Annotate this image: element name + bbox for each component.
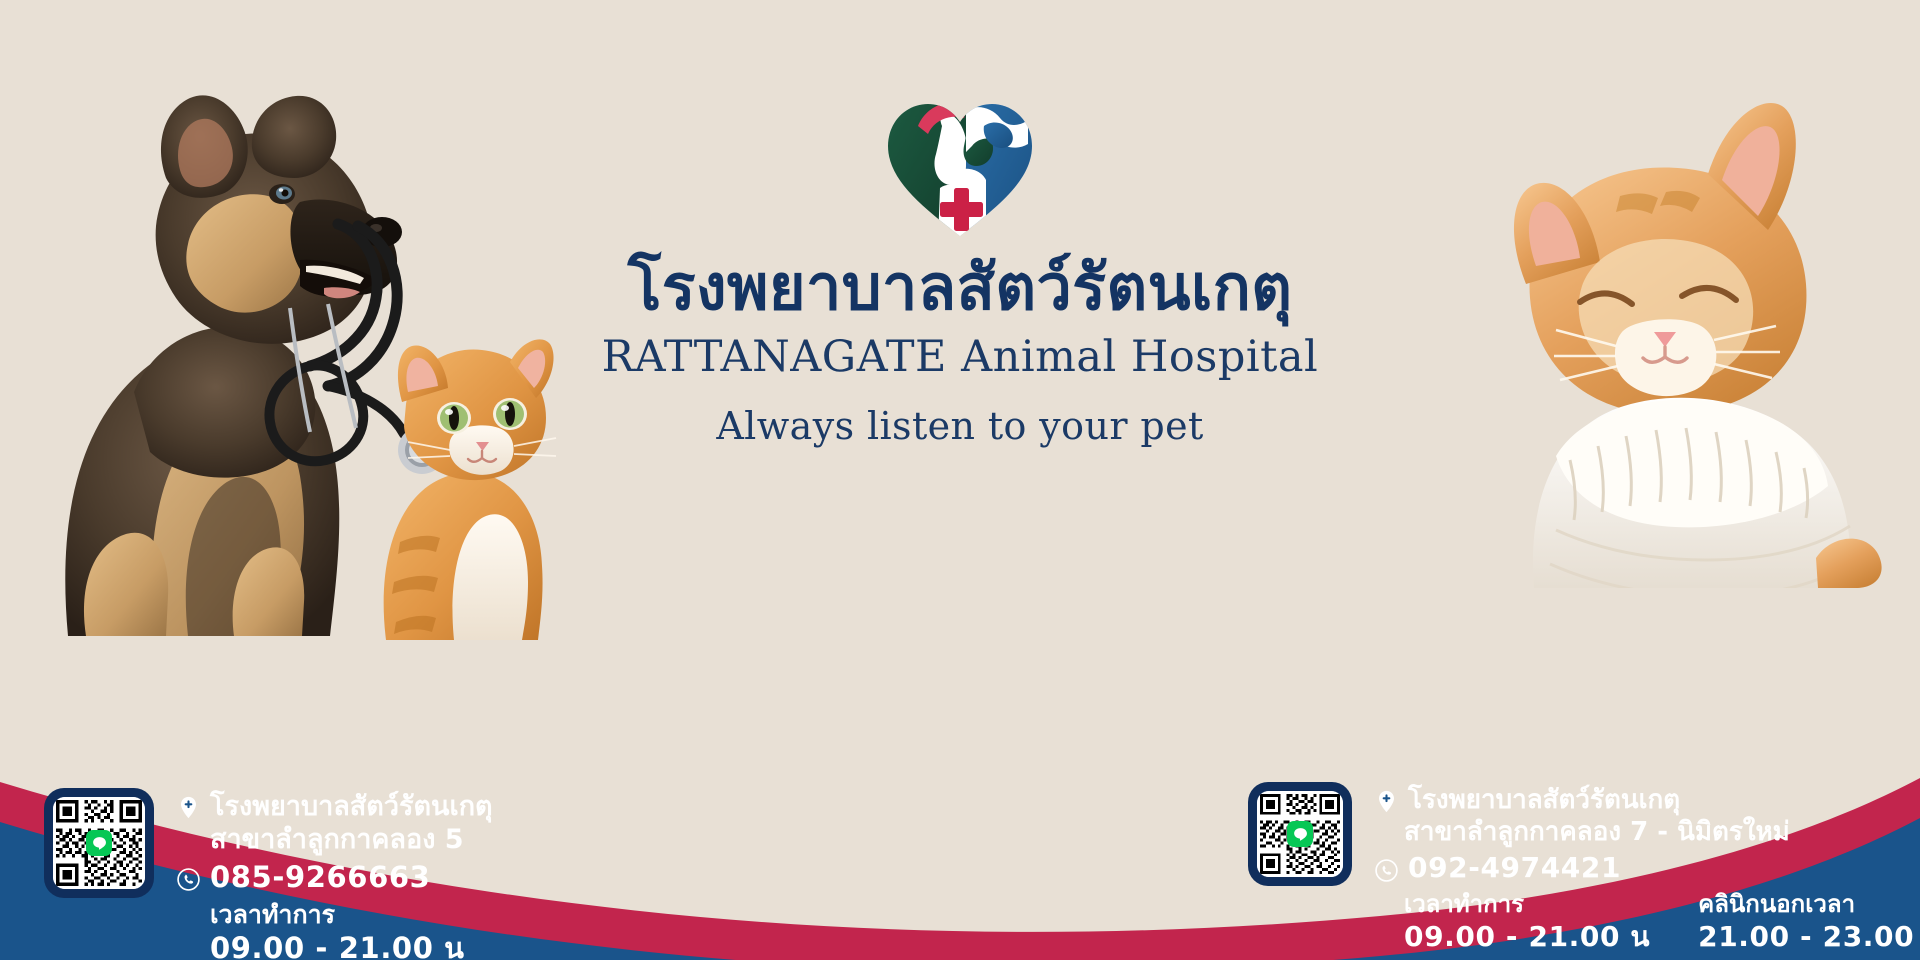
ginger-kitten-in-white-sweater <box>1470 88 1890 588</box>
phone-icon <box>1374 858 1399 883</box>
branch-contact-1: โรงพยาบาลสัตว์รัตนเกตุ สาขาลำลูกกาคลอง 5… <box>44 788 493 960</box>
branch-address-2: สาขาลำลูกกาคลอง 7 - นิมิตรใหม่ <box>1374 816 1920 848</box>
line-qr-code-2[interactable] <box>1248 782 1352 886</box>
hospital-tagline: Always listen to your pet <box>580 405 1340 449</box>
branch-name-2: โรงพยาบาลสัตว์รัตนเกตุ <box>1408 784 1680 816</box>
hospital-name-thai: โรงพยาบาลสัตว์รัตนเกตุ <box>580 255 1340 321</box>
ginger-kitten <box>350 330 590 640</box>
branch-phone-2[interactable]: 092-4974421 <box>1408 851 1621 884</box>
hours-label-1: เวลาทำการ <box>210 900 465 930</box>
hours-block-2-regular: เวลาทำการ 09.00 - 21.00 น <box>1404 890 1650 954</box>
hours-value-2-regular: 09.00 - 21.00 น <box>1404 919 1650 954</box>
heart-pet-cross-logo <box>880 96 1040 241</box>
location-pin-icon <box>1374 789 1399 814</box>
veterinary-hospital-banner: โรงพยาบาลสัตว์รัตนเกตุ RATTANAGATE Anima… <box>0 0 1920 960</box>
branch-name-1: โรงพยาบาลสัตว์รัตนเกตุ <box>210 790 493 823</box>
hours-value-2-afterhours: 21.00 - 23.00 น. <box>1698 919 1920 954</box>
hospital-name-english: RATTANAGATE Animal Hospital <box>580 333 1340 382</box>
brand-block: โรงพยาบาลสัตว์รัตนเกตุ RATTANAGATE Anima… <box>580 96 1340 448</box>
hours-label-2-regular: เวลาทำการ <box>1404 890 1650 919</box>
branch-contact-2: โรงพยาบาลสัตว์รัตนเกตุ สาขาลำลูกกาคลอง 7… <box>1248 782 1920 954</box>
hours-block-1: เวลาทำการ 09.00 - 21.00 น <box>210 900 465 960</box>
hours-label-2-afterhours: คลินิกนอกเวลา <box>1698 890 1920 919</box>
line-app-icon <box>86 830 112 856</box>
phone-icon <box>176 867 201 892</box>
hours-block-2-afterhours: คลินิกนอกเวลา 21.00 - 23.00 น. <box>1698 890 1920 954</box>
hours-value-1: 09.00 - 21.00 น <box>210 930 465 960</box>
line-app-icon <box>1287 821 1313 847</box>
branch-phone-1[interactable]: 085-9266663 <box>210 860 430 894</box>
location-pin-icon <box>176 795 201 820</box>
line-qr-code-1[interactable] <box>44 788 154 898</box>
branch-address-1: สาขาลำลูกกาคลอง 5 <box>176 823 493 856</box>
